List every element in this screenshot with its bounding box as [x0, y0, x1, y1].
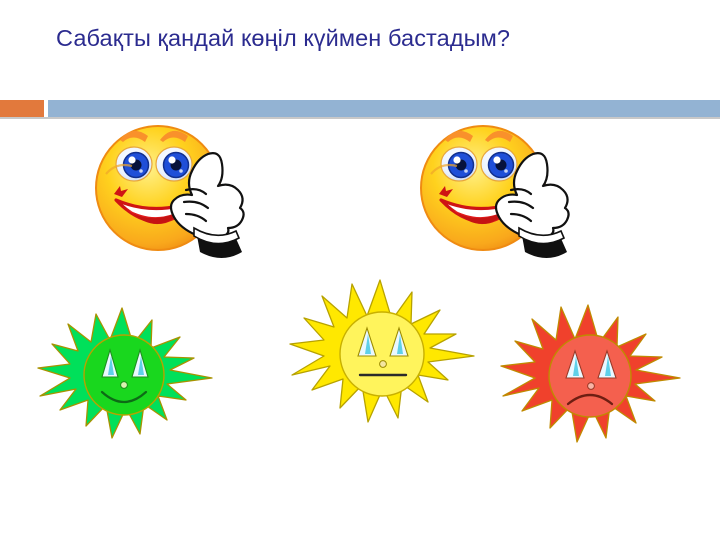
slide-canvas: Сабақты қандай көңіл күймен бастадым? — [0, 0, 720, 540]
smiley-thumbs-up-icon — [90, 112, 262, 260]
divider-accent-block — [0, 100, 44, 117]
title-block: Сабақты қандай көңіл күймен бастадым? — [56, 24, 596, 53]
smiley-thumbs-up-right — [415, 112, 587, 260]
sun-face-sad-icon — [498, 302, 684, 448]
sun-face-happy-green — [34, 304, 216, 444]
sun-face-happy-icon — [34, 304, 216, 444]
smiley-thumbs-up-icon — [415, 112, 587, 260]
sun-face-neutral-icon — [288, 278, 478, 428]
page-title: Сабақты қандай көңіл күймен бастадым? — [56, 24, 596, 53]
smiley-thumbs-up-left — [90, 112, 262, 260]
sun-face-neutral-yellow — [288, 278, 478, 428]
sun-face-sad-red — [498, 302, 684, 448]
